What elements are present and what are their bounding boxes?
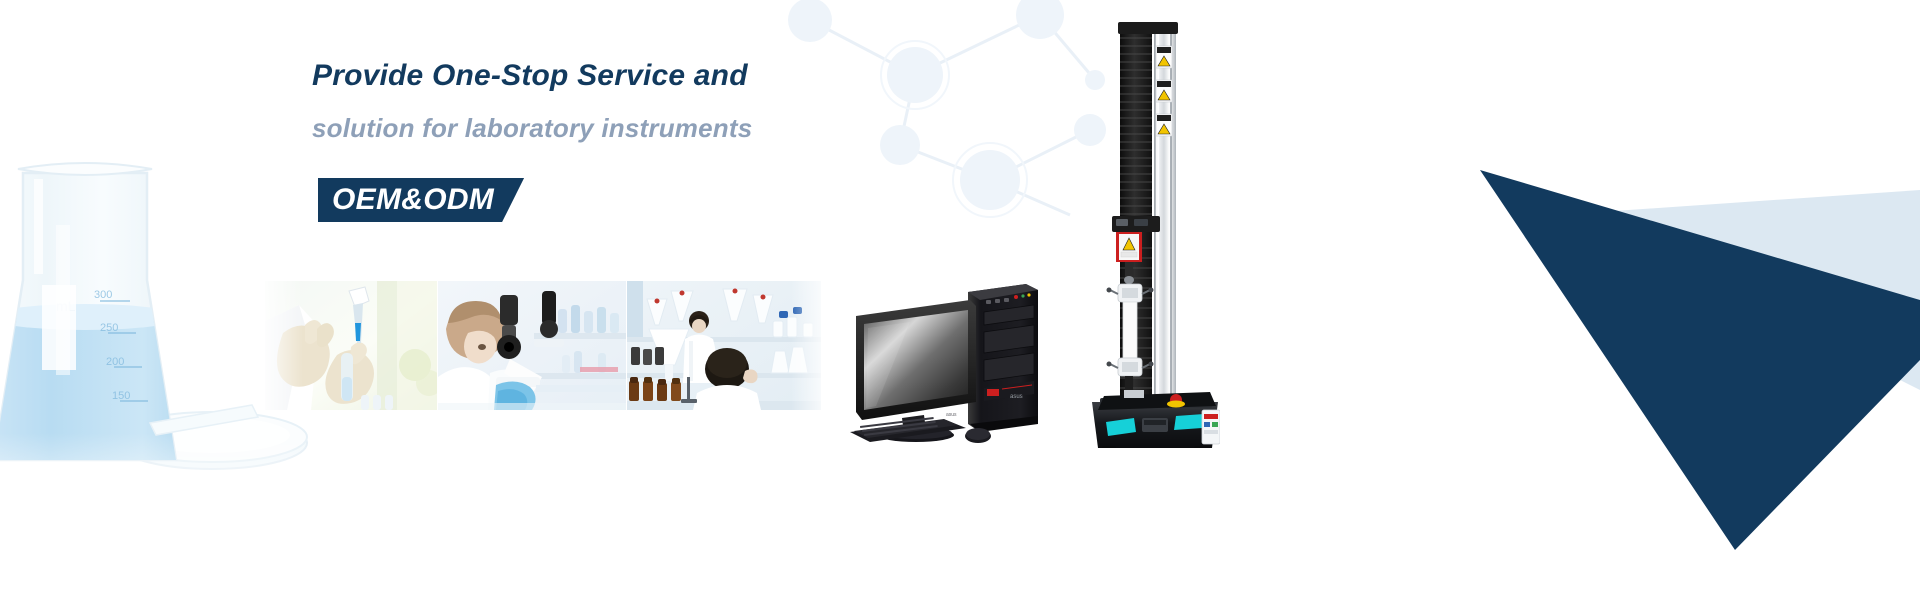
oem-odm-tag: OEM&ODM — [318, 178, 524, 222]
svg-text:asus: asus — [946, 412, 957, 418]
hero-banner: 300 250 200 150 mL Provide One-Stop Serv… — [0, 0, 1920, 597]
lab-photo-strip — [265, 281, 821, 410]
photo-pipetting-gloved-hands — [265, 281, 437, 410]
photo-laboratory-bench-team — [627, 281, 821, 410]
flask-tick-300: 300 — [94, 289, 112, 301]
desktop-computer-with-monitor: asus asus — [850, 280, 1070, 450]
svg-text:asus: asus — [1010, 394, 1023, 400]
product-imagery: asus asus — [840, 0, 1360, 597]
dark-blue-arrow-decoration — [1480, 130, 1920, 550]
universal-tensile-testing-machine — [1090, 18, 1220, 448]
photo-microscope-researcher — [438, 281, 626, 410]
machine-warning-labels — [1156, 46, 1172, 136]
flask-tick-250: 250 — [100, 322, 118, 334]
light-blue-triangle-decoration — [1570, 190, 1920, 390]
oem-odm-label: OEM&ODM — [332, 183, 494, 217]
